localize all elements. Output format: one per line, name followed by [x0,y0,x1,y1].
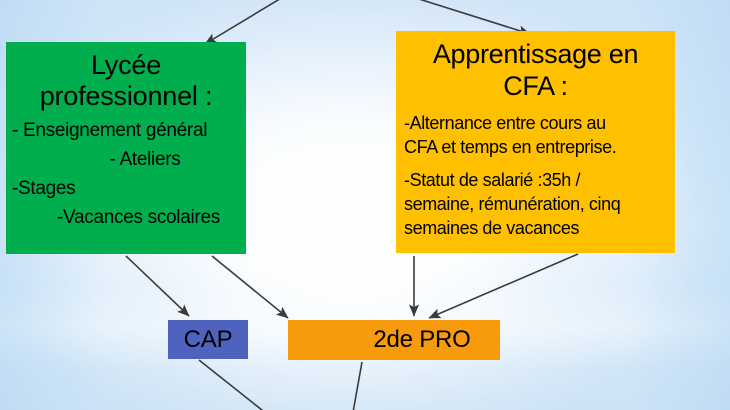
node-seconde-pro-label: 2de PRO [317,327,470,353]
connector-incoming-to-cfa [403,0,530,34]
node-apprentissage-cfa[interactable]: Apprentissage en CFA : -Alternance entre… [396,31,675,253]
connector-lycee-to-cap [126,256,189,316]
node-cap[interactable]: CAP [168,320,248,359]
node-cfa-title-line-1: Apprentissage en [404,38,667,70]
node-lycee-title: Lycée professionnel : [12,50,240,112]
node-cfa-paragraph-2-line-3: semaines de vacances [404,216,667,240]
node-cap-label: CAP [184,327,233,353]
node-lycee-title-line-2: professionnel : [12,81,240,112]
diagram-canvas: Lycée professionnel : - Enseignement gén… [0,0,730,410]
connector-lycee-to-seconde-pro [212,256,288,318]
node-lycee-professionnel[interactable]: Lycée professionnel : - Enseignement gén… [6,42,246,254]
connector-cap-to-offscreen-bottom [199,360,272,410]
node-cfa-paragraphs: -Alternance entre cours au CFA et temps … [404,111,667,240]
node-cfa-paragraph-2-line-1: -Statut de salarié :35h / [404,168,667,192]
node-lycee-bullet-1: - Enseignement général [12,116,240,145]
node-seconde-pro[interactable]: 2de PRO [288,320,500,360]
node-lycee-bullet-3: -Stages [12,174,240,203]
connector-cfa-to-seconde-pro-diagonal [429,254,578,318]
node-lycee-bullet-2: - Ateliers [12,145,240,174]
node-cfa-paragraph-2-line-2: semaine, rémunération, cinq [404,192,667,216]
node-lycee-bullet-4: -Vacances scolaires [12,203,240,232]
connector-incoming-to-lycee [205,0,288,44]
node-cfa-paragraph-1-line-1: -Alternance entre cours au [404,111,667,135]
node-cfa-paragraph-2: -Statut de salarié :35h / semaine, rémun… [404,168,667,240]
node-cfa-paragraph-1-line-2: CFA et temps en entreprise. [404,135,667,159]
node-cfa-title-line-2: CFA : [404,70,667,102]
node-cfa-title: Apprentissage en CFA : [404,38,667,102]
node-lycee-title-line-1: Lycée [12,50,240,81]
connector-seconde-pro-to-offscreen-bottom [352,362,362,410]
node-lycee-bullets: - Enseignement général - Ateliers -Stage… [12,116,240,232]
node-cfa-paragraph-1: -Alternance entre cours au CFA et temps … [404,111,667,159]
